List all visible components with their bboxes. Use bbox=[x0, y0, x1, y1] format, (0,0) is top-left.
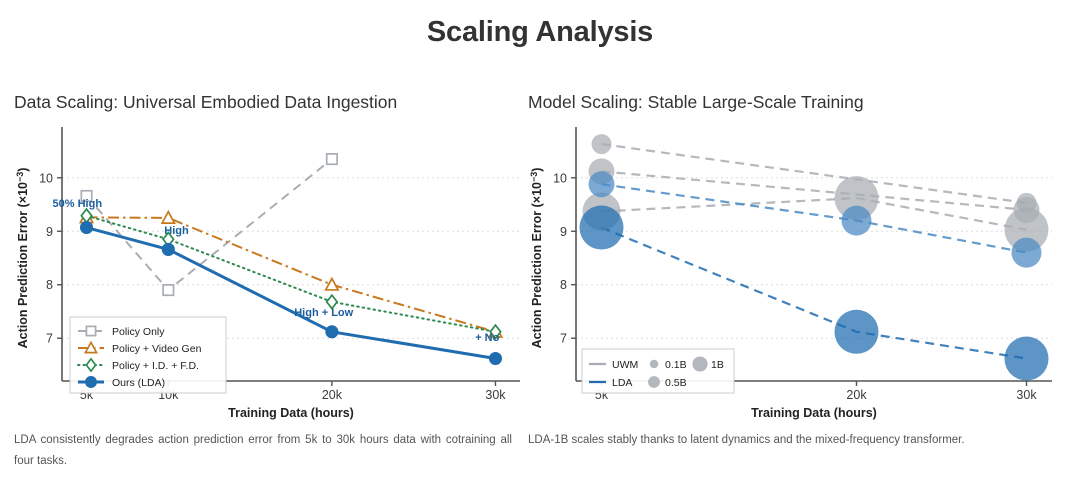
annotation-label: High + Low bbox=[294, 307, 353, 319]
legend-label: Ours (LDA) bbox=[112, 377, 165, 389]
model-scaling-svg: 789105k20k30kTraining Data (hours)Action… bbox=[528, 121, 1068, 421]
bubble-lda-1B bbox=[835, 310, 879, 354]
legend-bubble-0.5B bbox=[648, 376, 660, 388]
bubble-uwm-0.1B bbox=[592, 134, 612, 154]
y-axis-label-text: Action Prediction Error (×10−3) bbox=[529, 168, 544, 349]
caption-left: LDA consistently degrades action predict… bbox=[14, 430, 512, 473]
legend-size-label: 1B bbox=[711, 359, 724, 371]
superscript: −3 bbox=[15, 172, 25, 182]
marker-circle bbox=[86, 377, 96, 387]
marker-circle bbox=[163, 244, 174, 255]
series-line-4 bbox=[602, 228, 1027, 359]
x-tick-label: 20k bbox=[846, 388, 867, 402]
x-tick-label: 30k bbox=[485, 388, 506, 402]
y-tick-label: 8 bbox=[560, 278, 567, 292]
caption-right: LDA-1B scales stably thanks to latent dy… bbox=[528, 430, 1026, 451]
marker-circle bbox=[490, 353, 501, 364]
x-axis-label: Training Data (hours) bbox=[228, 406, 354, 420]
legend-size-label: 0.5B bbox=[665, 377, 687, 389]
annotation-label: 50% High bbox=[53, 198, 103, 210]
chart-model-scaling: 789105k20k30kTraining Data (hours)Action… bbox=[528, 121, 1068, 421]
panel-data-scaling: Data Scaling: Universal Embodied Data In… bbox=[14, 92, 534, 421]
legend-box bbox=[582, 349, 734, 393]
annotation-label: + No bbox=[475, 332, 499, 344]
panel-title-left: Data Scaling: Universal Embodied Data In… bbox=[14, 92, 534, 113]
bubble-lda-1B bbox=[1005, 337, 1049, 381]
y-axis-label: Action Prediction Error (×10−3) bbox=[15, 168, 30, 349]
legend-label: UWM bbox=[612, 359, 638, 371]
legend-label: Policy + I.D. + F.D. bbox=[112, 360, 199, 372]
legend-label: Policy Only bbox=[112, 326, 165, 338]
bubble-lda-1B bbox=[580, 206, 624, 250]
x-tick-label: 20k bbox=[322, 388, 343, 402]
panel-model-scaling: Model Scaling: Stable Large-Scale Traini… bbox=[528, 92, 1068, 421]
paren: ) bbox=[16, 168, 30, 172]
bubble-lda-0.5B bbox=[1012, 238, 1042, 268]
legend-right: UWMLDA0.1B0.5B1B bbox=[582, 349, 734, 393]
legend-label: Policy + Video Gen bbox=[112, 343, 202, 355]
y-tick-label: 10 bbox=[39, 171, 53, 185]
page-title: Scaling Analysis bbox=[0, 16, 1080, 49]
marker-square bbox=[163, 285, 173, 295]
marker-circle bbox=[81, 222, 92, 233]
y-tick-label: 7 bbox=[560, 332, 567, 346]
y-axis-label: Action Prediction Error (×10−3) bbox=[529, 168, 544, 349]
y-axis-label-text: Action Prediction Error (×10−3) bbox=[15, 168, 30, 349]
y-tick-label: 10 bbox=[553, 171, 567, 185]
annotation-label: High bbox=[164, 225, 189, 237]
series-line-2 bbox=[87, 216, 496, 332]
x-tick-label: 30k bbox=[1016, 388, 1037, 402]
superscript: −3 bbox=[529, 172, 539, 182]
legend-bubble-1B bbox=[692, 356, 707, 371]
marker-circle bbox=[326, 326, 337, 337]
series-line-1 bbox=[87, 217, 496, 331]
marker-triangle bbox=[162, 212, 174, 223]
x-axis-label: Training Data (hours) bbox=[751, 406, 877, 420]
y-tick-label: 8 bbox=[46, 278, 53, 292]
y-tick-label: 7 bbox=[46, 332, 53, 346]
legend-left: Policy OnlyPolicy + Video GenPolicy + I.… bbox=[70, 317, 226, 393]
data-scaling-svg: 789105k10k20k30kTraining Data (hours)Act… bbox=[14, 121, 534, 421]
paren: ) bbox=[530, 168, 544, 172]
marker-square bbox=[327, 154, 337, 164]
legend-bubble-0.1B bbox=[650, 360, 659, 369]
y-tick-label: 9 bbox=[560, 225, 567, 239]
panel-title-right: Model Scaling: Stable Large-Scale Traini… bbox=[528, 92, 1068, 113]
marker-square bbox=[86, 326, 95, 335]
legend-size-label: 0.1B bbox=[665, 359, 687, 371]
chart-data-scaling: 789105k10k20k30kTraining Data (hours)Act… bbox=[14, 121, 534, 421]
legend-label: LDA bbox=[612, 377, 632, 389]
y-tick-label: 9 bbox=[46, 225, 53, 239]
bubble-lda-0.5B bbox=[589, 171, 615, 197]
series-line-1 bbox=[602, 171, 1027, 210]
bubble-lda-0.5B bbox=[842, 206, 872, 236]
